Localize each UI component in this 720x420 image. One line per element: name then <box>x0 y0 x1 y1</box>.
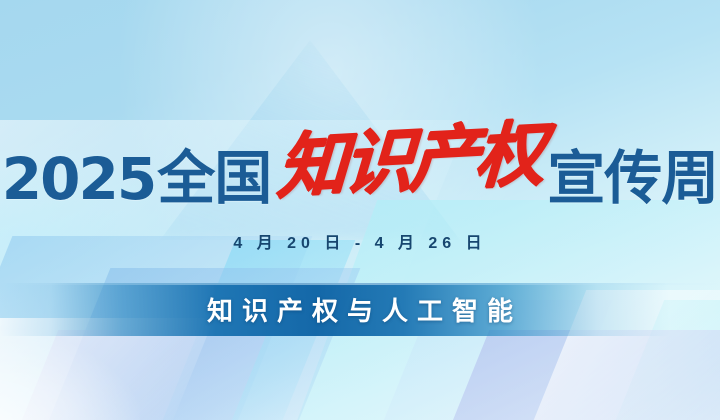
headline-publicity-week: 宣传周 <box>547 150 718 208</box>
ip-week-banner: 2025 全国 知识产权 宣传周 4 月 20 日 - 4 月 26 日 知识产… <box>0 0 720 420</box>
headline-intellectual-property-calligraphy: 知识产权 <box>276 119 543 203</box>
headline-nationwide: 全国 <box>157 150 271 208</box>
event-date-range: 4 月 20 日 - 4 月 26 日 <box>0 229 720 253</box>
background-parallelogram-3 <box>2 330 269 420</box>
background-white-corner-bottom-left <box>0 330 140 420</box>
background-parallelogram-5 <box>421 330 720 420</box>
banner-headline: 2025 全国 知识产权 宣传周 <box>0 112 720 208</box>
slogan-bar: 知识产权与人工智能 <box>0 283 720 336</box>
headline-year: 2025 <box>2 150 155 208</box>
slogan-text: 知识产权与人工智能 <box>198 291 522 328</box>
